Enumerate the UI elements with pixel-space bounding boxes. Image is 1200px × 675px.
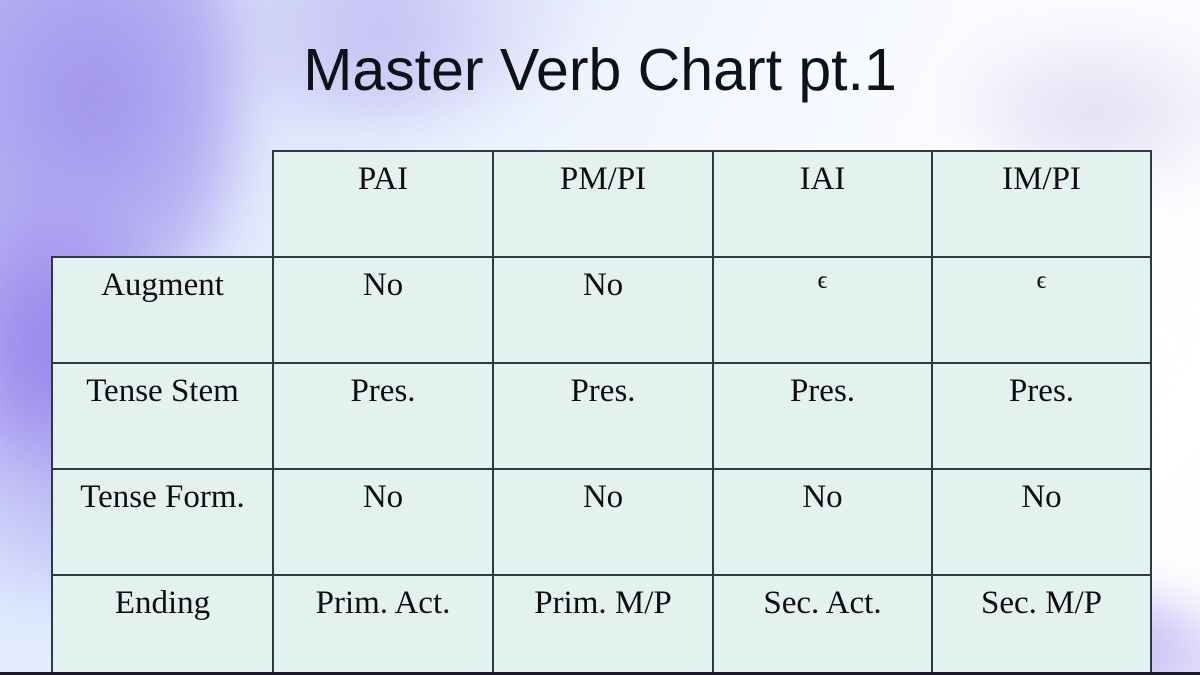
slide-canvas: Master Verb Chart pt.1 PAI PM/PI IAI IM/… bbox=[0, 0, 1200, 675]
cell-tense-stem-pai: Pres. bbox=[273, 363, 493, 469]
cell-tense-form-iai: No bbox=[713, 469, 932, 575]
column-header-iai: IAI bbox=[713, 151, 932, 257]
cell-tense-form-pai: No bbox=[273, 469, 493, 575]
table-row-tense-stem: Tense Stem Pres. Pres. Pres. Pres. bbox=[52, 363, 1151, 469]
column-header-pmpi: PM/PI bbox=[493, 151, 713, 257]
cell-augment-pai: No bbox=[273, 257, 493, 363]
cell-tense-stem-iai: Pres. bbox=[713, 363, 932, 469]
row-label-tense-stem: Tense Stem bbox=[52, 363, 273, 469]
table-row-ending: Ending Prim. Act. Prim. M/P Sec. Act. Se… bbox=[52, 575, 1151, 675]
cell-ending-impi: Sec. M/P bbox=[932, 575, 1151, 675]
page-title: Master Verb Chart pt.1 bbox=[0, 40, 1200, 100]
table-row-tense-form: Tense Form. No No No No bbox=[52, 469, 1151, 575]
cell-augment-impi: ϵ bbox=[932, 257, 1151, 363]
row-label-tense-form: Tense Form. bbox=[52, 469, 273, 575]
cell-augment-iai: ϵ bbox=[713, 257, 932, 363]
cell-tense-stem-impi: Pres. bbox=[932, 363, 1151, 469]
cell-tense-form-impi: No bbox=[932, 469, 1151, 575]
table-header-row: PAI PM/PI IAI IM/PI bbox=[52, 151, 1151, 257]
master-verb-chart-table: PAI PM/PI IAI IM/PI Augment No No ϵ ϵ Te… bbox=[51, 150, 1152, 675]
cell-tense-stem-pmpi: Pres. bbox=[493, 363, 713, 469]
table-corner-cell bbox=[52, 151, 273, 257]
cell-ending-pai: Prim. Act. bbox=[273, 575, 493, 675]
table-row-augment: Augment No No ϵ ϵ bbox=[52, 257, 1151, 363]
cell-ending-iai: Sec. Act. bbox=[713, 575, 932, 675]
cell-tense-form-pmpi: No bbox=[493, 469, 713, 575]
column-header-pai: PAI bbox=[273, 151, 493, 257]
column-header-impi: IM/PI bbox=[932, 151, 1151, 257]
row-label-augment: Augment bbox=[52, 257, 273, 363]
row-label-ending: Ending bbox=[52, 575, 273, 675]
cell-augment-pmpi: No bbox=[493, 257, 713, 363]
cell-ending-pmpi: Prim. M/P bbox=[493, 575, 713, 675]
